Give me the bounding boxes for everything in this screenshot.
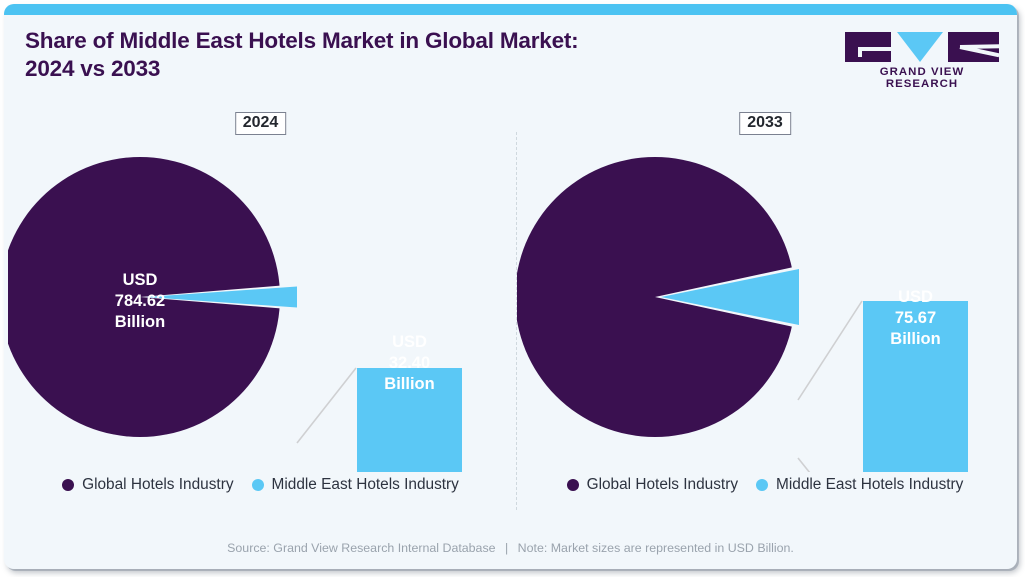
logo-v-triangle-icon [897, 32, 943, 62]
footer-source: Source: Grand View Research Internal Dat… [227, 541, 495, 555]
bar-value-unit-2033: Billion [863, 329, 968, 350]
footer-note: Source: Grand View Research Internal Dat… [4, 541, 1017, 555]
pie-bar-figure-2033: USD 75.67 Billion [517, 152, 1013, 472]
legend-label-global-2024: Global Hotels Industry [82, 476, 233, 494]
legend-item-middle-east-2033[interactable]: Middle East Hotels Industry [756, 476, 963, 494]
accent-top-bar [4, 4, 1017, 15]
pie-value-unit-2024: Billion [70, 312, 210, 333]
bar-value-currency-2024: USD [357, 332, 462, 353]
footer-separator: | [499, 541, 514, 555]
bar-value-unit-2024: Billion [357, 374, 462, 395]
legend-swatch-middle-east-icon [252, 479, 264, 491]
bar-value-currency-2033: USD [863, 287, 968, 308]
connector-line-top-2024 [297, 368, 356, 443]
page-title: Share of Middle East Hotels Market in Gl… [25, 27, 665, 83]
legend-item-global-2024[interactable]: Global Hotels Industry [62, 476, 233, 494]
year-badge-2033: 2033 [739, 112, 791, 135]
pie-value-currency-2024: USD [70, 270, 210, 291]
logo-g-stem [858, 47, 862, 57]
connector-line-top-2033 [798, 301, 862, 400]
legend-swatch-middle-east-icon [756, 479, 768, 491]
chart-panel-2033: 2033 USD 75.67 Billion [517, 104, 1013, 524]
bar-value-label-2024: USD 32.40 Billion [357, 332, 462, 395]
legend-2033: Global Hotels Industry Middle East Hotel… [517, 476, 1013, 494]
legend-label-global-2033: Global Hotels Industry [587, 476, 738, 494]
legend-label-middle-east-2033: Middle East Hotels Industry [776, 476, 963, 494]
pie-bar-figure-2024: USD 784.62 Billion USD 32.40 Billion [8, 152, 513, 472]
logo-wordmark: GRAND VIEW RESEARCH [845, 66, 999, 90]
legend-swatch-global-icon [567, 479, 579, 491]
bar-value-number-2024: 32.40 [357, 353, 462, 374]
page-title-line2: 2024 vs 2033 [25, 55, 665, 83]
footer-note-text: Note: Market sizes are represented in US… [518, 541, 794, 555]
logo-glyphs [845, 32, 999, 62]
year-badge-2024: 2024 [235, 112, 287, 135]
legend-2024: Global Hotels Industry Middle East Hotel… [8, 476, 513, 494]
bar-value-number-2033: 75.67 [863, 308, 968, 329]
bar-value-label-2033: USD 75.67 Billion [863, 287, 968, 350]
page-title-line1: Share of Middle East Hotels Market in Gl… [25, 27, 665, 55]
pie-value-label-2024: USD 784.62 Billion [70, 270, 210, 333]
connector-line-bottom-2033 [798, 458, 862, 472]
logo-r-cut-upper [960, 44, 1000, 49]
infographic-card: Share of Middle East Hotels Market in Gl… [4, 4, 1017, 569]
logo-g-bar [858, 47, 891, 51]
chart-panel-2024: 2024 USD 784.62 Billion [8, 104, 513, 524]
legend-item-middle-east-2024[interactable]: Middle East Hotels Industry [252, 476, 459, 494]
pie-value-number-2024: 784.62 [70, 291, 210, 312]
legend-swatch-global-icon [62, 479, 74, 491]
grand-view-research-logo: GRAND VIEW RESEARCH [845, 32, 999, 82]
legend-label-middle-east-2024: Middle East Hotels Industry [272, 476, 459, 494]
legend-item-global-2033[interactable]: Global Hotels Industry [567, 476, 738, 494]
